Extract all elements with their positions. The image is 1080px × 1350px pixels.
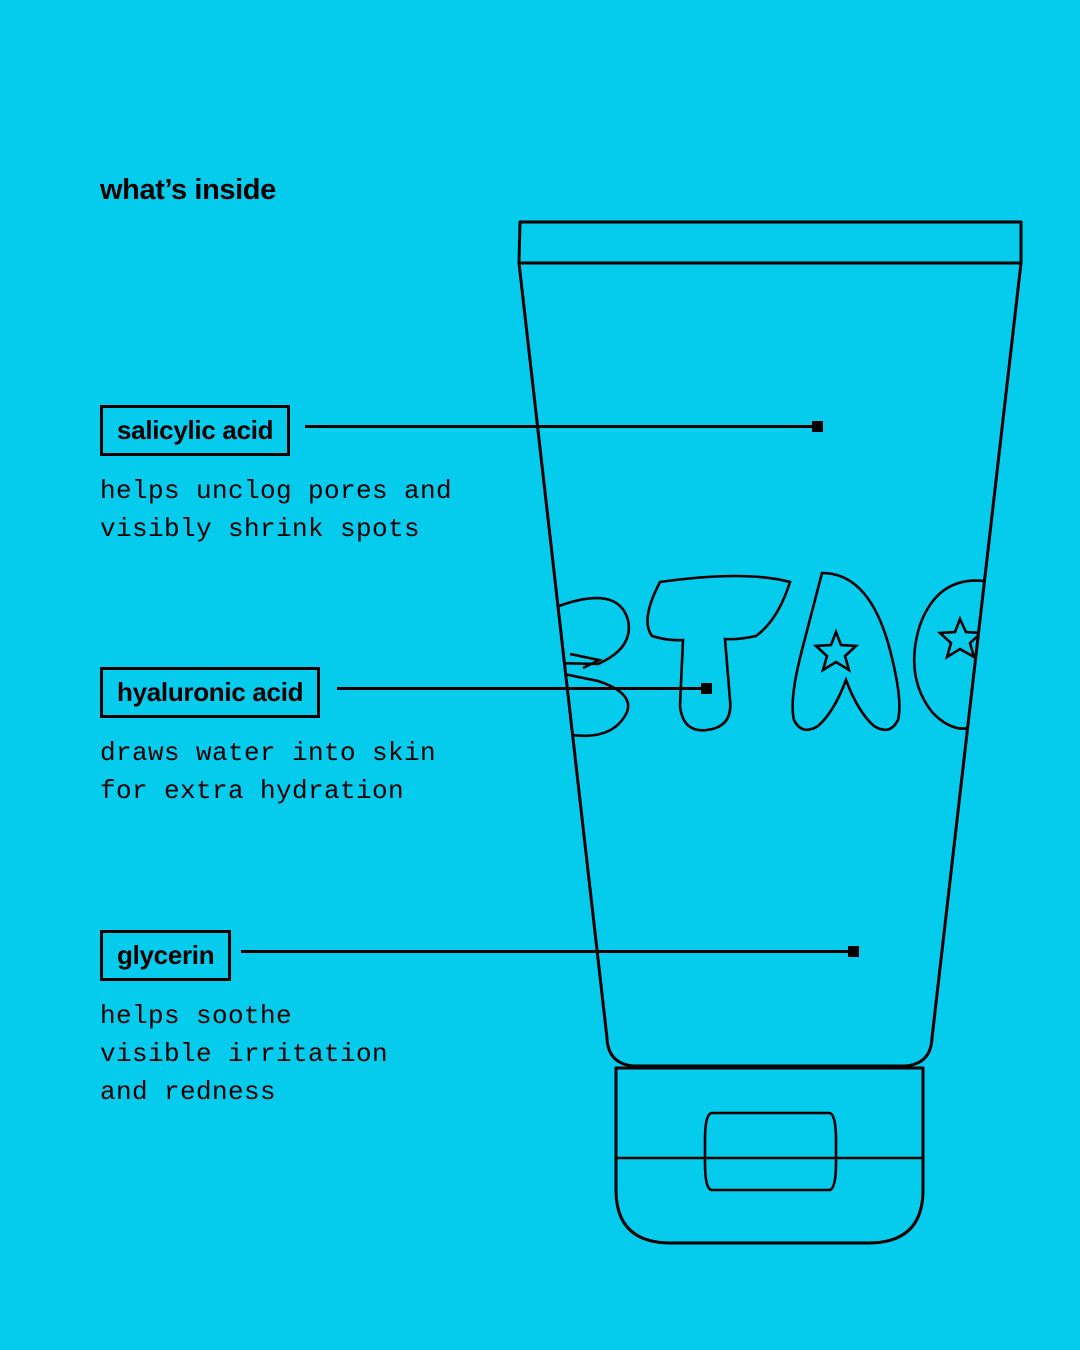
ingredient-description-hyaluronic-acid: draws water into skin for extra hydratio… xyxy=(100,734,436,810)
star-icon-2 xyxy=(940,619,981,657)
ingredient-description-glycerin: helps soothe visible irritation and redn… xyxy=(100,997,388,1111)
letter-s-stroke-2 xyxy=(505,598,629,664)
letter-g xyxy=(914,581,996,729)
ingredient-description-salicylic-acid: helps unclog pores and visibly shrink sp… xyxy=(100,472,452,548)
ingredient-chip-hyaluronic-acid[interactable]: hyaluronic acid xyxy=(100,667,320,718)
desc-line: helps unclog pores and xyxy=(100,476,452,506)
desc-line: draws water into skin xyxy=(100,738,436,768)
letter-t xyxy=(648,576,791,730)
desc-line: visible irritation xyxy=(100,1039,388,1069)
leader-marker-hyaluronic-acid xyxy=(701,683,712,694)
poster-canvas: what’s inside salicylic acid helps unclo… xyxy=(0,0,1080,1350)
desc-line: and redness xyxy=(100,1077,276,1107)
letter-s-tail xyxy=(570,654,599,668)
callout-glycerin: glycerin helps soothe visible irritation… xyxy=(100,930,388,1111)
tube-brand-lettering xyxy=(475,573,996,736)
ingredient-chip-glycerin[interactable]: glycerin xyxy=(100,930,231,981)
tube-top-seal xyxy=(519,222,1021,263)
letter-a xyxy=(793,573,900,730)
star-icon xyxy=(816,632,856,670)
callout-salicylic-acid: salicylic acid helps unclog pores and vi… xyxy=(100,405,452,548)
desc-line: for extra hydration xyxy=(100,776,404,806)
leader-marker-glycerin xyxy=(848,946,859,957)
callout-hyaluronic-acid: hyaluronic acid draws water into skin fo… xyxy=(100,667,436,810)
ingredient-chip-salicylic-acid[interactable]: salicylic acid xyxy=(100,405,290,456)
tube-cap xyxy=(616,1068,923,1243)
tube-body xyxy=(519,263,1021,1066)
tube-cap-label-plate xyxy=(705,1113,836,1190)
desc-line: visibly shrink spots xyxy=(100,514,420,544)
desc-line: helps soothe xyxy=(100,1001,292,1031)
letter-s xyxy=(475,590,628,736)
leader-marker-salicylic-acid xyxy=(812,421,823,432)
page-title: what’s inside xyxy=(100,174,276,207)
